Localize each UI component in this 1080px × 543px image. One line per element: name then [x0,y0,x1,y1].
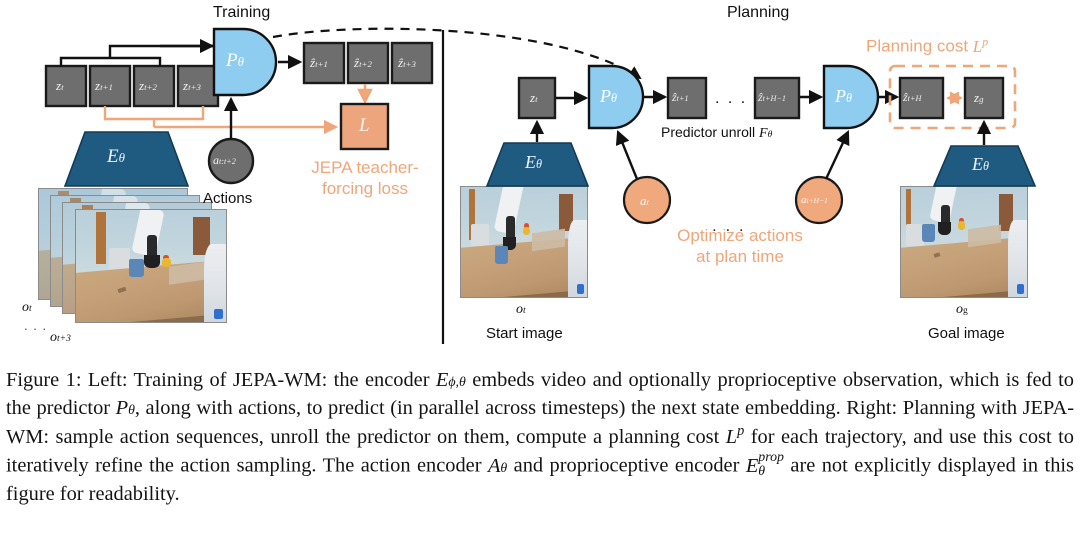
training-obs-last-label: ot+3 [50,330,71,346]
caption-math-predictor: Pθ [116,397,135,419]
unroll-ellipsis: . . . [715,90,747,108]
goal-encoder-label: Eθ [972,154,989,175]
goal-token [965,78,1003,118]
action1-to-predictor-arrow [618,132,637,179]
caption-math-encoder: Eϕ,θ [436,369,466,391]
training-predictor-shape [214,29,276,95]
planning-start-token-label: zt [530,90,538,106]
start-obs-label: ot [516,302,526,318]
caption-label: Figure 1: [6,369,82,391]
figure-diagram: Training Planning zt zt+1 zt+2 zt+3 ẑt+1… [0,0,1080,360]
predictor-unroll-caption: Predictor unroll Fθ [661,124,772,142]
planning-predictor-1-label: Pθ [600,86,617,107]
training-actions-label: at:t+2 [213,153,236,168]
token-label-zt3: zt+3 [183,78,201,94]
planning-predictor-2-label: Pθ [835,86,852,107]
goal-obs-label: og [956,302,968,318]
predicted-token-label-1: ẑt+1 [310,55,328,71]
training-encoder-shape [65,132,188,186]
training-title: Training [213,4,270,22]
training-obs-ellipsis: . . . [24,318,47,333]
token-gather-bracket [61,46,216,66]
final-predicted-token-label: ẑt+H [903,90,921,105]
actions-caption: Actions [203,190,252,207]
caption-math-prop-encoder: Epropθ [746,455,784,477]
goal-token-label: zg [974,90,983,106]
goal-image-caption: Goal image [928,325,1005,342]
training-encoder-label: Eθ [107,146,125,168]
optimize-actions-line1: Optimize actions [655,226,825,246]
optimize-actions-line2: at plan time [655,247,825,267]
planning-action-node-1-label: at [640,193,649,209]
caption-math-action-encoder: Aθ [488,455,507,477]
action2-to-predictor-arrow [826,132,848,179]
planning-cost-caption: Planning cost Lp [866,34,988,57]
token-label-zt1: zt+1 [95,78,113,94]
training-obs-first-label: ot [22,300,32,316]
predicted-token-label-3: ẑt+3 [398,55,416,71]
caption-seg-1: Left: Training of JEPA-WM: the encoder [82,369,436,391]
target-gather-bracket [105,106,203,119]
jepa-loss-caption-line1: JEPA teacher- [300,158,430,178]
planning-action-node-2-label: at+H−1 [801,194,828,206]
jepa-loss-caption-line2: forcing loss [300,179,430,199]
training-predictor-label: Pθ [226,50,244,72]
start-encoder-label: Eθ [525,152,542,173]
figure-caption: Figure 1: Left: Training of JEPA-WM: the… [6,366,1074,508]
token-label-zt: zt [56,78,64,94]
unroll-token-1-label: ẑt+1 [672,90,689,105]
token-label-zt2: zt+2 [139,78,157,94]
unroll-token-2-label: ẑt+H−1 [758,90,786,105]
loss-box-label: L [359,115,370,137]
predicted-token-label-2: ẑt+2 [354,55,372,71]
planning-title: Planning [727,4,789,22]
start-image-caption: Start image [486,325,563,342]
caption-seg-5: and proprioceptive encoder [507,455,746,477]
caption-math-cost: Lp [726,426,744,448]
